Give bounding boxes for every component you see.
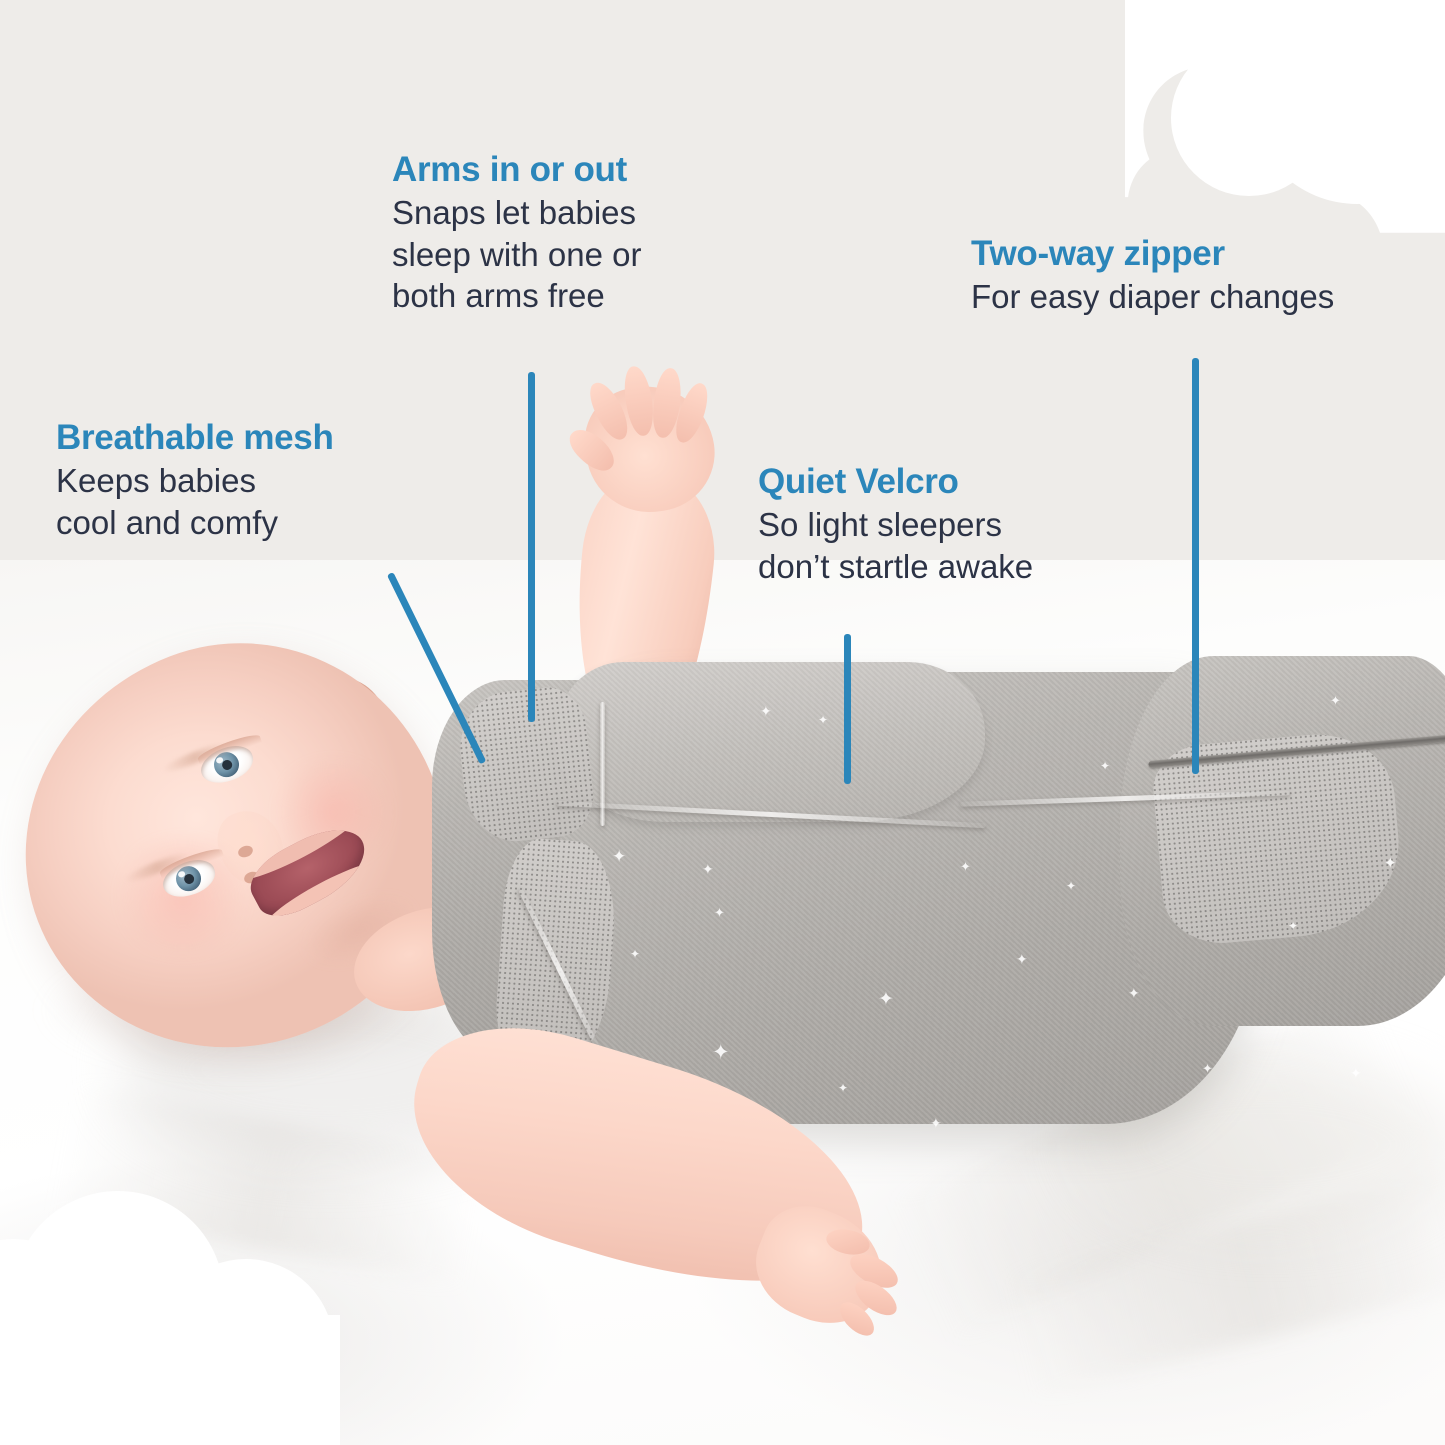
sleep-sack-flap [555, 662, 985, 822]
callout-two-way-zipper: Two-way zipper For easy diaper changes [971, 234, 1334, 318]
callout-heading-quiet-velcro: Quiet Velcro [758, 462, 1033, 503]
star-print: ✦ [1066, 880, 1076, 892]
star-print: ✦ [930, 1116, 942, 1130]
star-print: ✦ [878, 990, 894, 1009]
sleep-sack-seam [600, 702, 605, 826]
star-print: ✦ [630, 948, 640, 960]
star-print: ✦ [712, 1042, 730, 1063]
star-print: ✦ [760, 704, 772, 718]
star-print: ✦ [612, 848, 626, 865]
star-print: ✦ [838, 1082, 848, 1094]
callout-heading-breathable-mesh: Breathable mesh [56, 418, 334, 459]
star-print: ✦ [1128, 986, 1140, 1000]
callout-body-breathable-mesh: Keeps babies cool and comfy [56, 460, 334, 544]
callout-breathable-mesh: Breathable mesh Keeps babies cool and co… [56, 418, 334, 543]
star-print: ✦ [818, 714, 828, 726]
product-photo: ✦ ✦ ✦ ✦ ✦ ✦ ✦ ✦ ✦ ✦ ✦ ✦ ✦ ✦ ✦ ✦ ✦ ✦ ✦ ✦ [0, 0, 1445, 1445]
callout-body-two-way-zipper: For easy diaper changes [971, 276, 1334, 318]
callout-arms-in-or-out: Arms in or out Snaps let babies sleep wi… [392, 150, 641, 317]
star-print: ✦ [1100, 760, 1110, 772]
star-print: ✦ [1384, 856, 1397, 871]
infographic-canvas: ✦ ✦ ✦ ✦ ✦ ✦ ✦ ✦ ✦ ✦ ✦ ✦ ✦ ✦ ✦ ✦ ✦ ✦ ✦ ✦ [0, 0, 1445, 1445]
star-print: ✦ [1330, 694, 1341, 707]
star-print: ✦ [1016, 952, 1028, 966]
star-print: ✦ [1202, 1062, 1213, 1075]
star-print: ✦ [1350, 1066, 1362, 1080]
callout-heading-arms-in-or-out: Arms in or out [392, 150, 641, 191]
star-print: ✦ [960, 860, 971, 873]
leader-line-quiet-velcro [844, 634, 851, 784]
star-print: ✦ [1288, 920, 1298, 932]
callout-heading-two-way-zipper: Two-way zipper [971, 234, 1334, 275]
star-print: ✦ [702, 862, 714, 876]
callout-quiet-velcro: Quiet Velcro So light sleepers don’t sta… [758, 462, 1033, 587]
star-print: ✦ [714, 906, 725, 919]
callout-body-arms-in-or-out: Snaps let babies sleep with one or both … [392, 192, 641, 318]
callout-body-quiet-velcro: So light sleepers don’t startle awake [758, 504, 1033, 588]
leader-line-two-way-zipper [1192, 358, 1199, 774]
leader-line-arms-in-or-out [528, 372, 535, 722]
